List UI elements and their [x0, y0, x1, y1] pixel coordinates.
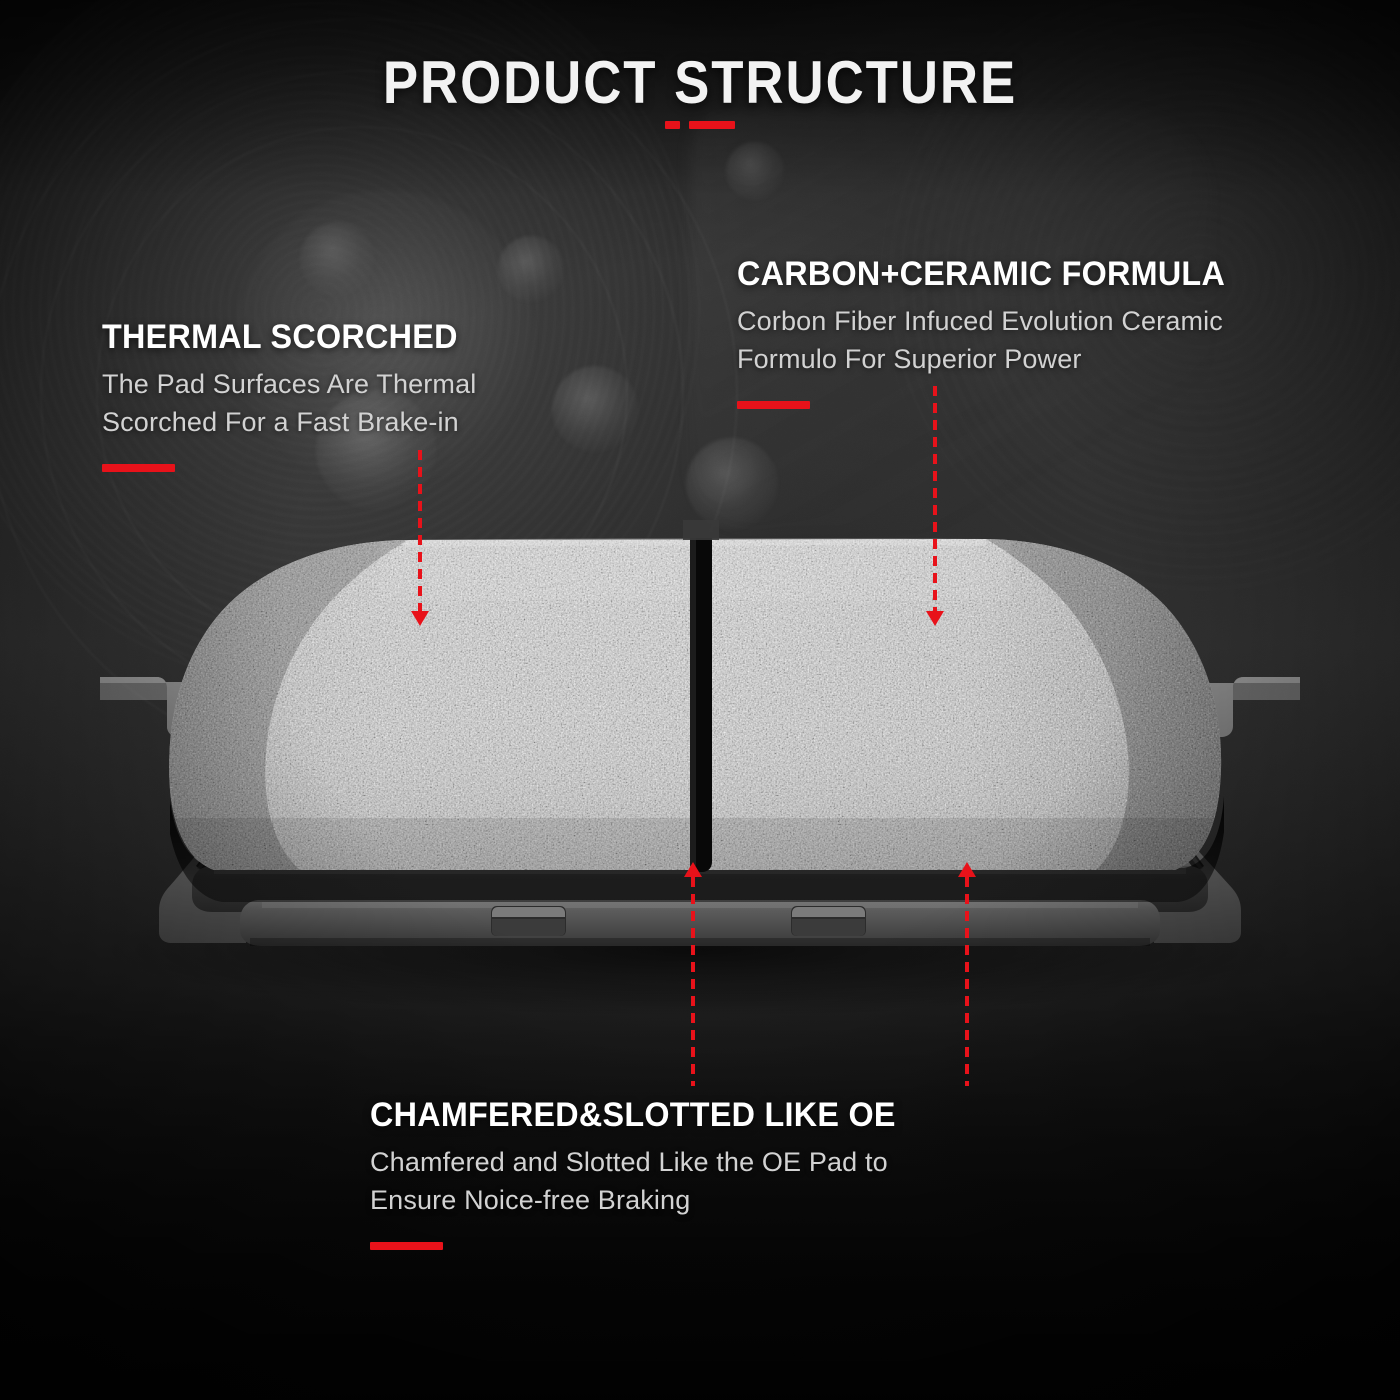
annotation-arrow-chamfered-edge	[961, 862, 973, 1086]
page-title: PRODUCT STRUCTURE	[84, 48, 1316, 117]
annotation-arrow-center-slot	[687, 862, 699, 1086]
callout-heading: CHAMFERED&SLOTTED LIKE OE	[370, 1096, 896, 1135]
callout-body-line-1: Corbon Fiber Infuced Evolution Ceramic	[737, 302, 1251, 340]
title-accent-rule	[0, 121, 1400, 129]
arrow-head-up-icon	[958, 862, 976, 877]
callout-heading: THERMAL SCORCHED	[102, 318, 458, 357]
arrow-shaft	[965, 877, 969, 1086]
arrow-shaft	[418, 450, 422, 611]
callout-accent-bar	[737, 401, 810, 409]
callout-accent-bar	[102, 464, 175, 472]
callout-carbon-ceramic-formula: CARBON+CERAMIC FORMULA Corbon Fiber Infu…	[737, 255, 1251, 409]
callout-body-line-2: Ensure Noice-free Braking	[370, 1181, 923, 1219]
callout-body-line-1: The Pad Surfaces Are Thermal	[102, 365, 476, 403]
callout-heading: CARBON+CERAMIC FORMULA	[737, 255, 1225, 294]
arrow-head-up-icon	[684, 862, 702, 877]
arrow-shaft	[933, 386, 937, 611]
callout-body-line-1: Chamfered and Slotted Like the OE Pad to	[370, 1143, 923, 1181]
annotation-arrow-friction-right	[929, 386, 941, 626]
accent-dash-long	[689, 121, 735, 129]
annotation-arrow-friction-left	[414, 450, 426, 626]
infographic-canvas: PRODUCT STRUCTURE THERMAL SCORCHED The P…	[0, 0, 1400, 1400]
accent-dash-short	[665, 121, 680, 129]
arrow-head-down-icon	[926, 611, 944, 626]
callout-body-line-2: Formulo For Superior Power	[737, 340, 1251, 378]
callout-accent-bar	[370, 1242, 443, 1250]
callout-thermal-scorched: THERMAL SCORCHED The Pad Surfaces Are Th…	[102, 318, 476, 472]
arrow-head-down-icon	[411, 611, 429, 626]
callout-chamfered-slotted-like-oe: CHAMFERED&SLOTTED LIKE OE Chamfered and …	[370, 1096, 923, 1250]
callout-body-line-2: Scorched For a Fast Brake-in	[102, 403, 476, 441]
arrow-shaft	[691, 877, 695, 1086]
